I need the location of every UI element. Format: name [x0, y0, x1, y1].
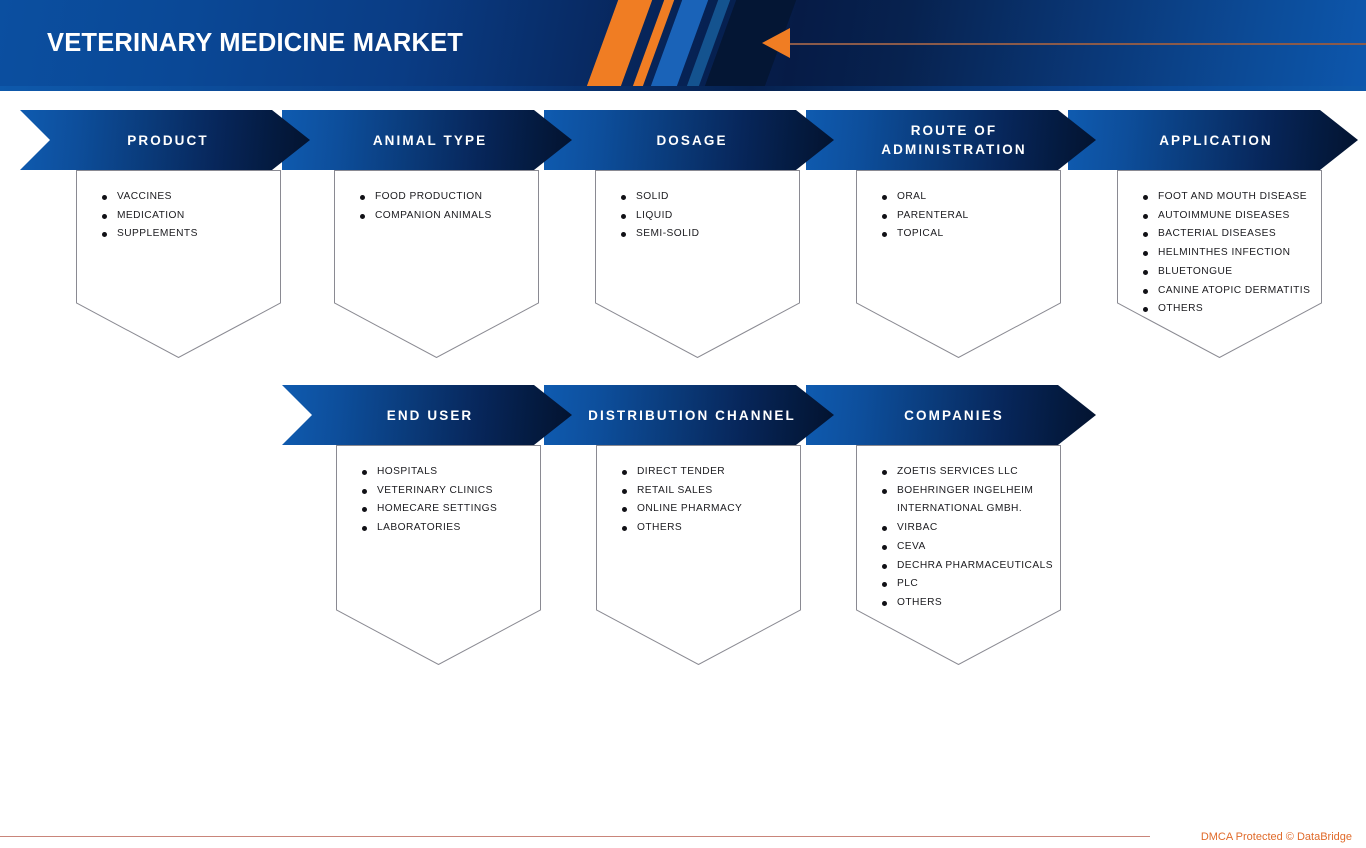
page-title: VETERINARY MEDICINE MARKET	[47, 29, 463, 58]
segment-item-list: ZOETIS SERVICES LLCBOEHRINGER INGELHEIMI…	[882, 463, 1055, 613]
list-item: HELMINTHES INFECTION	[1143, 244, 1316, 263]
segment-card: DIRECT TENDERRETAIL SALESONLINE PHARMACY…	[596, 445, 801, 665]
list-item: ZOETIS SERVICES LLC	[882, 463, 1055, 482]
segment-banner[interactable]: PRODUCT	[20, 110, 310, 170]
list-item: MEDICATION	[102, 207, 275, 226]
header-bottom-edge	[0, 86, 1366, 91]
list-item: LIQUID	[621, 207, 794, 226]
list-item: SOLID	[621, 188, 794, 207]
list-item: PARENTERAL	[882, 207, 1055, 226]
segment-banner[interactable]: END USER	[282, 385, 572, 445]
list-item: OTHERS	[622, 519, 795, 538]
banner-title: END USER	[282, 385, 572, 445]
segment-banner[interactable]: DOSAGE	[544, 110, 834, 170]
list-item: RETAIL SALES	[622, 482, 795, 501]
list-item: CEVA	[882, 538, 1055, 557]
segment-card: HOSPITALSVETERINARY CLINICSHOMECARE SETT…	[336, 445, 541, 665]
banner-title: ROUTE OF ADMINISTRATION	[806, 110, 1096, 170]
list-item: FOOD PRODUCTION	[360, 188, 533, 207]
segment-card: FOOT AND MOUTH DISEASEAUTOIMMUNE DISEASE…	[1117, 170, 1322, 358]
list-item: BOEHRINGER INGELHEIM	[882, 482, 1055, 501]
banner-title: APPLICATION	[1068, 110, 1358, 170]
arrow-left-icon	[762, 28, 790, 58]
list-item: INTERNATIONAL GMBH.	[882, 500, 1055, 519]
banner-title: DOSAGE	[544, 110, 834, 170]
segment-item-list: DIRECT TENDERRETAIL SALESONLINE PHARMACY…	[622, 463, 795, 538]
list-item: AUTOIMMUNE DISEASES	[1143, 207, 1316, 226]
segment-card: FOOD PRODUCTIONCOMPANION ANIMALS	[334, 170, 539, 358]
banner-title: COMPANIES	[806, 385, 1096, 445]
segment-item-list: FOOD PRODUCTIONCOMPANION ANIMALS	[360, 188, 533, 225]
list-item: ORAL	[882, 188, 1055, 207]
header-arrow-line	[790, 43, 1366, 45]
footer-divider	[0, 836, 1150, 837]
list-item: COMPANION ANIMALS	[360, 207, 533, 226]
list-item: DECHRA PHARMACEUTICALS	[882, 557, 1055, 576]
banner-title: PRODUCT	[20, 110, 310, 170]
banner-title: DISTRIBUTION CHANNEL	[544, 385, 834, 445]
list-item: TOPICAL	[882, 225, 1055, 244]
segment-item-list: HOSPITALSVETERINARY CLINICSHOMECARE SETT…	[362, 463, 535, 538]
list-item: VETERINARY CLINICS	[362, 482, 535, 501]
segment-card: VACCINESMEDICATIONSUPPLEMENTS	[76, 170, 281, 358]
list-item: BACTERIAL DISEASES	[1143, 225, 1316, 244]
list-item: OTHERS	[1143, 300, 1316, 319]
segment-banner[interactable]: DISTRIBUTION CHANNEL	[544, 385, 834, 445]
segment-item-list: FOOT AND MOUTH DISEASEAUTOIMMUNE DISEASE…	[1143, 188, 1316, 319]
list-item: HOSPITALS	[362, 463, 535, 482]
page-header: VETERINARY MEDICINE MARKET	[0, 0, 1366, 91]
list-item: HOMECARE SETTINGS	[362, 500, 535, 519]
infographic-page: VETERINARY MEDICINE MARKET APPLICATIONRO…	[0, 0, 1366, 848]
segment-item-list: VACCINESMEDICATIONSUPPLEMENTS	[102, 188, 275, 244]
list-item: DIRECT TENDER	[622, 463, 795, 482]
segment-banner[interactable]: ROUTE OF ADMINISTRATION	[806, 110, 1096, 170]
list-item: OTHERS	[882, 594, 1055, 613]
list-item: BLUETONGUE	[1143, 263, 1316, 282]
segment-card: ZOETIS SERVICES LLCBOEHRINGER INGELHEIMI…	[856, 445, 1061, 665]
banner-title: ANIMAL TYPE	[282, 110, 572, 170]
segment-card: ORALPARENTERALTOPICAL	[856, 170, 1061, 358]
list-item: FOOT AND MOUTH DISEASE	[1143, 188, 1316, 207]
segment-banner[interactable]: APPLICATION	[1068, 110, 1358, 170]
segment-item-list: ORALPARENTERALTOPICAL	[882, 188, 1055, 244]
list-item: VIRBAC	[882, 519, 1055, 538]
segment-banner[interactable]: COMPANIES	[806, 385, 1096, 445]
list-item: SEMI-SOLID	[621, 225, 794, 244]
list-item: VACCINES	[102, 188, 275, 207]
dmca-notice: DMCA Protected © DataBridge	[1201, 831, 1352, 843]
segment-banner[interactable]: ANIMAL TYPE	[282, 110, 572, 170]
segment-card: SOLIDLIQUIDSEMI-SOLID	[595, 170, 800, 358]
list-item: CANINE ATOPIC DERMATITIS	[1143, 282, 1316, 301]
segment-item-list: SOLIDLIQUIDSEMI-SOLID	[621, 188, 794, 244]
list-item: LABORATORIES	[362, 519, 535, 538]
list-item: ONLINE PHARMACY	[622, 500, 795, 519]
list-item: PLC	[882, 575, 1055, 594]
list-item: SUPPLEMENTS	[102, 225, 275, 244]
